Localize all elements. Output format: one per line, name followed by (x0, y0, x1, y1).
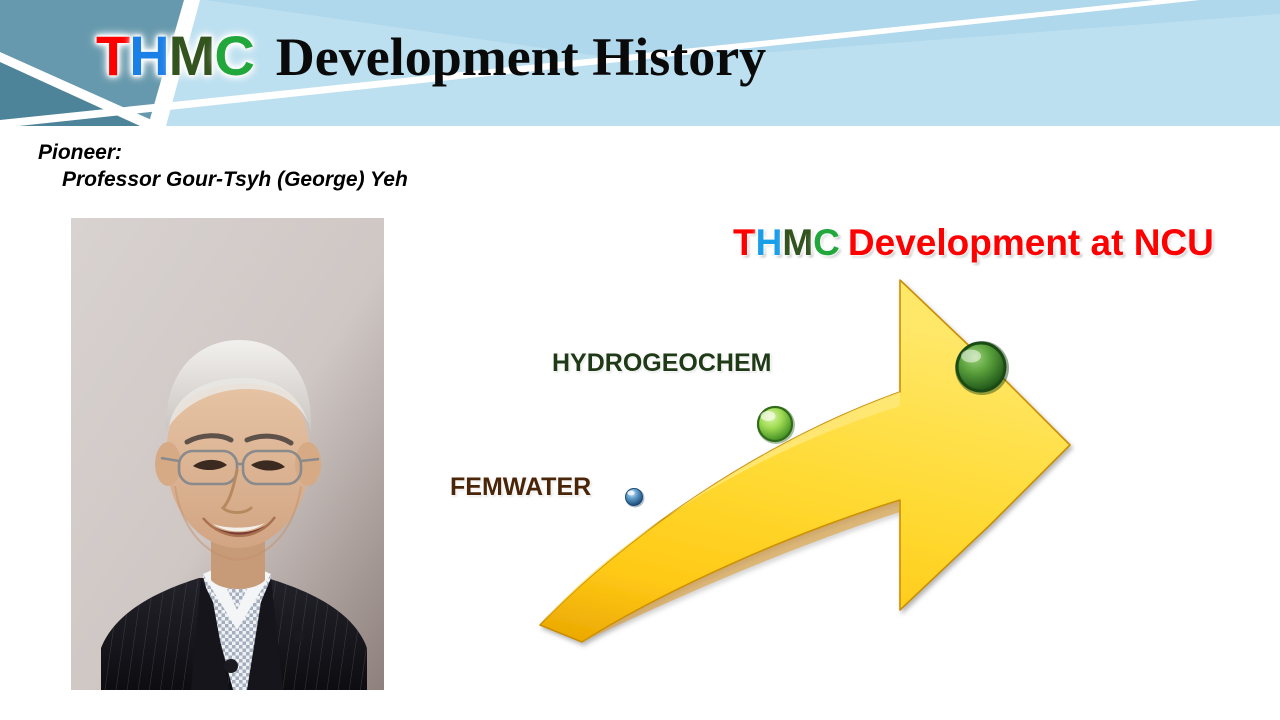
label-hydrogeochem: HYDROGEOCHEM (552, 351, 771, 376)
milestone-marker-thmc (955, 341, 1009, 395)
thmc-development-at-ncu-title: THMCDevelopment at NCU (733, 224, 1214, 261)
development-history-diagram: HYDROGEOCHEM FEMWATER (430, 210, 1280, 680)
ncu-letter-m: M (782, 222, 813, 263)
header-title-group: THMC Development History (96, 28, 766, 84)
pioneer-portrait-photo (71, 218, 384, 690)
pioneer-name: Professor Gour-Tsyh (George) Yeh (62, 167, 408, 194)
logo-letter-h: H (129, 24, 168, 87)
milestone-marker-femwater (626, 489, 645, 508)
logo-letter-m: M (169, 24, 215, 87)
logo-letter-c: C (214, 24, 253, 87)
curved-growth-arrow (430, 210, 1280, 680)
ncu-letter-t: T (733, 222, 756, 263)
pioneer-block: Pioneer: Professor Gour-Tsyh (George) Ye… (38, 140, 408, 194)
label-femwater: FEMWATER (450, 475, 591, 500)
milestone-marker-hydrogeochem (757, 406, 795, 444)
logo-letter-t: T (96, 24, 129, 87)
pioneer-label: Pioneer: (38, 140, 408, 167)
ncu-title-rest: Development at NCU (848, 222, 1214, 263)
page-title: Development History (276, 30, 766, 84)
header-banner: THMC Development History (0, 0, 1280, 126)
ncu-letter-c: C (813, 222, 840, 263)
thmc-logo: THMC (96, 28, 254, 84)
ncu-letter-h: H (756, 222, 783, 263)
